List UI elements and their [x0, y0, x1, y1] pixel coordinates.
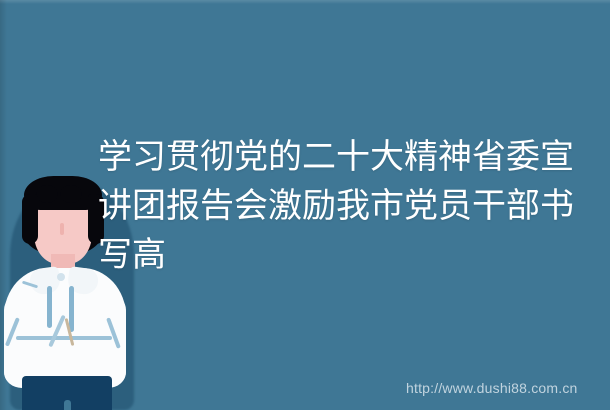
nose-shape	[60, 223, 64, 235]
headline-text: 学习贯彻党的二十大精神省委宣讲团报告会激励我市党员干部书写高	[98, 133, 598, 280]
poster-canvas: 学习贯彻党的二十大精神省委宣讲团报告会激励我市党员干部书写高 http://ww…	[0, 0, 610, 410]
hoodie-body	[4, 268, 126, 388]
pocket-edge	[16, 336, 112, 340]
hair-fringe-wave-right	[60, 185, 82, 203]
top-edge-sheen	[0, 0, 610, 4]
watermark-url: http://www.dushi88.com.cn	[406, 379, 578, 397]
pants-leg-gap	[64, 400, 71, 410]
drawstring-left	[47, 286, 52, 328]
hair-side-left	[22, 194, 38, 244]
collar-detail	[57, 273, 65, 281]
hair-fringe-wave-left	[36, 185, 58, 203]
drawstring-right	[69, 286, 74, 332]
